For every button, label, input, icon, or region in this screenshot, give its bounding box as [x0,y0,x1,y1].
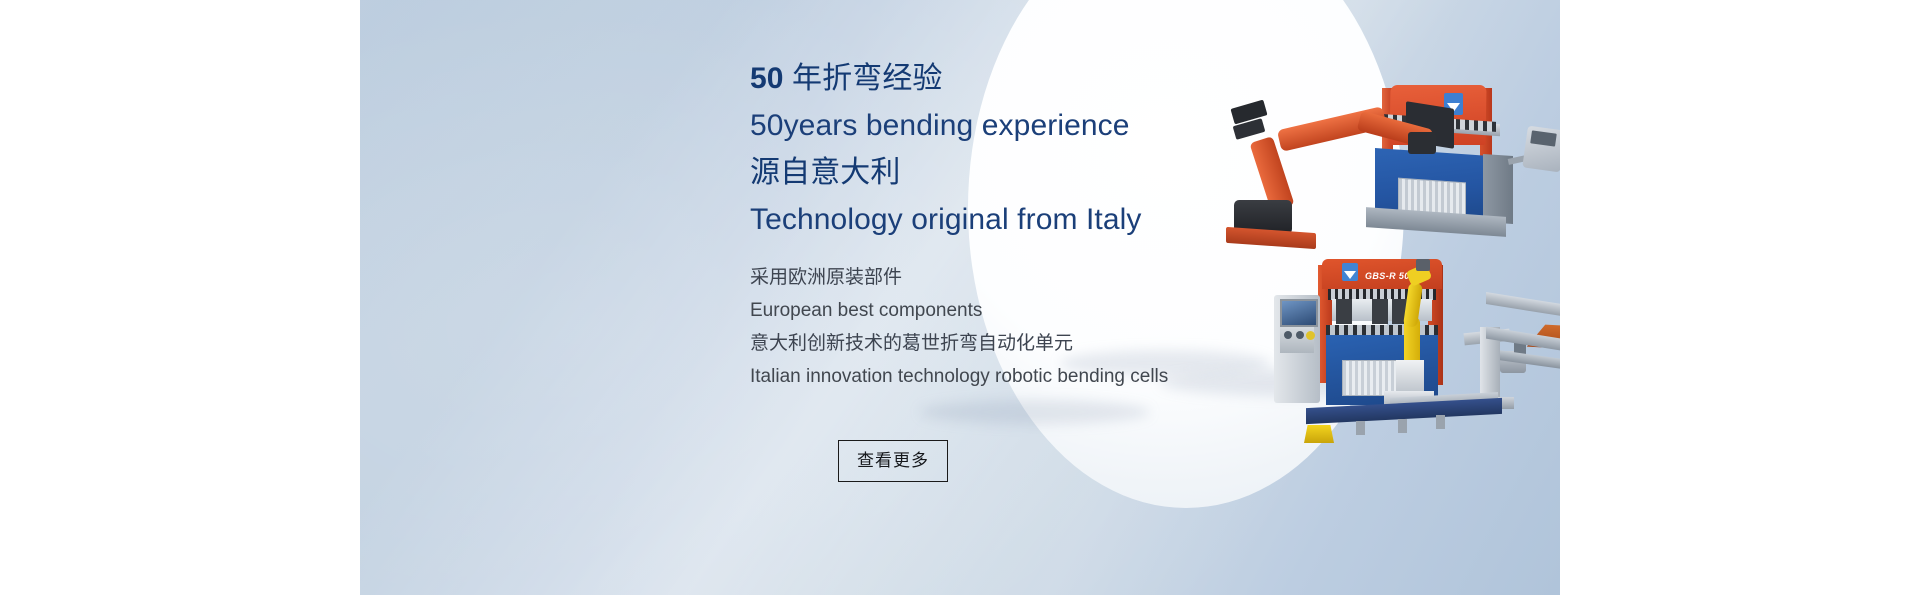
floor-shadow [920,400,1150,424]
subtext-line-4: Italian innovation technology robotic be… [750,360,1310,393]
headline-number: 50 [750,62,784,95]
subtext-line-3: 意大利创新技术的葛世折弯自动化单元 [750,327,1310,360]
headline-line-2: 50years bending experience [750,102,1310,149]
headline-line-1-text: 年折弯经验 [784,62,943,95]
lag-logo-icon [1342,263,1358,281]
machine-photo-gbs-r-100: GBS-R 100 [1490,205,1560,415]
banner-copy: 50 年折弯经验 50years bending experience 源自意大… [750,55,1310,393]
machine-model-label-gbs-r-50: GBS-R 50 [1365,271,1410,281]
headline-line-4: Technology original from Italy [750,196,1310,243]
subtext-line-1: 采用欧洲原装部件 [750,261,1310,294]
view-more-button[interactable]: 查看更多 [838,440,948,482]
headline-line-1: 50 年折弯经验 [750,55,1310,102]
subtext-line-2: European best components [750,294,1310,327]
hero-banner: GBS-R 50 GBS-R 100 [360,0,1560,595]
banner-stage: GBS-R 50 GBS-R 100 [0,0,1920,595]
headline-line-3: 源自意大利 [750,149,1310,196]
